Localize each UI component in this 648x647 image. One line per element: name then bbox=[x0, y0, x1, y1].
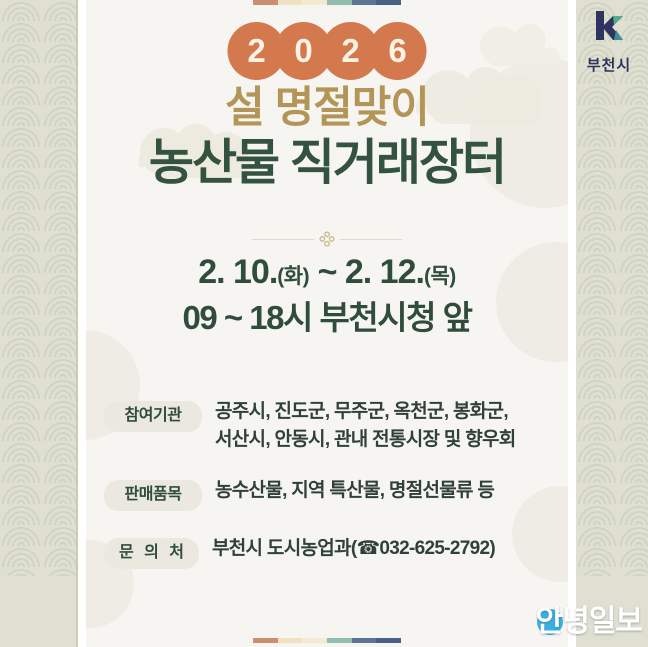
year-badge-2026: 2 0 2 6 bbox=[228, 22, 427, 80]
bucheon-city-logo: 부천시 bbox=[576, 6, 642, 75]
poster-canvas: 2 0 2 6 설 명절맞이 농산물 직거래장터 bbox=[86, 0, 568, 647]
detail-text-line: 공주시, 진도군, 무주군, 옥천군, 봉화군, bbox=[215, 398, 558, 426]
left-plain-block bbox=[0, 576, 76, 647]
left-wave-band bbox=[0, 0, 76, 647]
detail-label-items: 판매품목 bbox=[104, 480, 202, 511]
day-start: (화) bbox=[277, 265, 309, 288]
press-watermark: 안녕일보 bbox=[536, 607, 642, 637]
poster-root: 2 0 2 6 설 명절맞이 농산물 직거래장터 bbox=[0, 0, 648, 647]
event-hours-location: 09 ~ 18시 부천시청 앞 bbox=[86, 299, 568, 338]
detail-value-participants: 공주시, 진도군, 무주군, 옥천군, 봉화군, 서산시, 안동시, 관내 전통… bbox=[202, 398, 558, 453]
ornament-divider bbox=[252, 231, 402, 247]
city-name-label: 부천시 bbox=[576, 54, 642, 75]
divider-rule-right bbox=[340, 239, 402, 240]
left-gutter bbox=[78, 0, 86, 647]
detail-text-line: 부천시 도시농업과(☎032-625-2792) bbox=[212, 535, 558, 563]
bucheon-b-mark-icon bbox=[586, 6, 632, 52]
day-end: (목) bbox=[424, 265, 456, 288]
poster-headline: 설 명절맞이 농산물 직거래장터 bbox=[86, 84, 568, 193]
detail-label-participants: 참여기관 bbox=[104, 401, 202, 432]
year-digit: 6 bbox=[369, 22, 427, 80]
cloud-motif-corner bbox=[464, 20, 568, 80]
detail-list: 참여기관 공주시, 진도군, 무주군, 옥천군, 봉화군, 서산시, 안동시, … bbox=[104, 398, 558, 569]
detail-label-contact: 문 의 처 bbox=[104, 538, 199, 569]
range-mark: ~ bbox=[318, 253, 337, 291]
right-wave-band bbox=[576, 0, 648, 647]
event-date-range: 2. 10.(화) ~ 2. 12.(목) bbox=[86, 252, 568, 292]
date-end: 2. 12. bbox=[345, 253, 424, 291]
right-seigaiha-pattern bbox=[576, 0, 648, 576]
detail-text-line: 농수산물, 지역 특산물, 명절선물류 등 bbox=[215, 477, 558, 505]
detail-value-contact: 부천시 도시농업과(☎032-625-2792) bbox=[199, 535, 558, 563]
flower-ornament-icon bbox=[319, 231, 335, 247]
headline-title: 농산물 직거래장터 bbox=[86, 135, 568, 193]
detail-row-contact: 문 의 처 부천시 도시농업과(☎032-625-2792) bbox=[104, 535, 558, 569]
top-color-bar bbox=[253, 0, 401, 5]
divider-rule-left bbox=[252, 239, 314, 240]
watermark-text: 안녕일보 bbox=[536, 607, 642, 637]
detail-value-items: 농수산물, 지역 특산물, 명절선물류 등 bbox=[202, 477, 558, 505]
left-seigaiha-pattern bbox=[0, 0, 76, 576]
bottom-color-bar bbox=[253, 638, 401, 643]
detail-text-line: 서산시, 안동시, 관내 전통시장 및 향우회 bbox=[215, 426, 558, 454]
headline-subtitle: 설 명절맞이 bbox=[86, 84, 568, 133]
event-schedule: 2. 10.(화) ~ 2. 12.(목) 09 ~ 18시 부천시청 앞 bbox=[86, 252, 568, 338]
right-gutter bbox=[568, 0, 576, 647]
detail-row-items: 판매품목 농수산물, 지역 특산물, 명절선물류 등 bbox=[104, 477, 558, 511]
date-start: 2. 10. bbox=[198, 253, 277, 291]
detail-row-participants: 참여기관 공주시, 진도군, 무주군, 옥천군, 봉화군, 서산시, 안동시, … bbox=[104, 398, 558, 453]
